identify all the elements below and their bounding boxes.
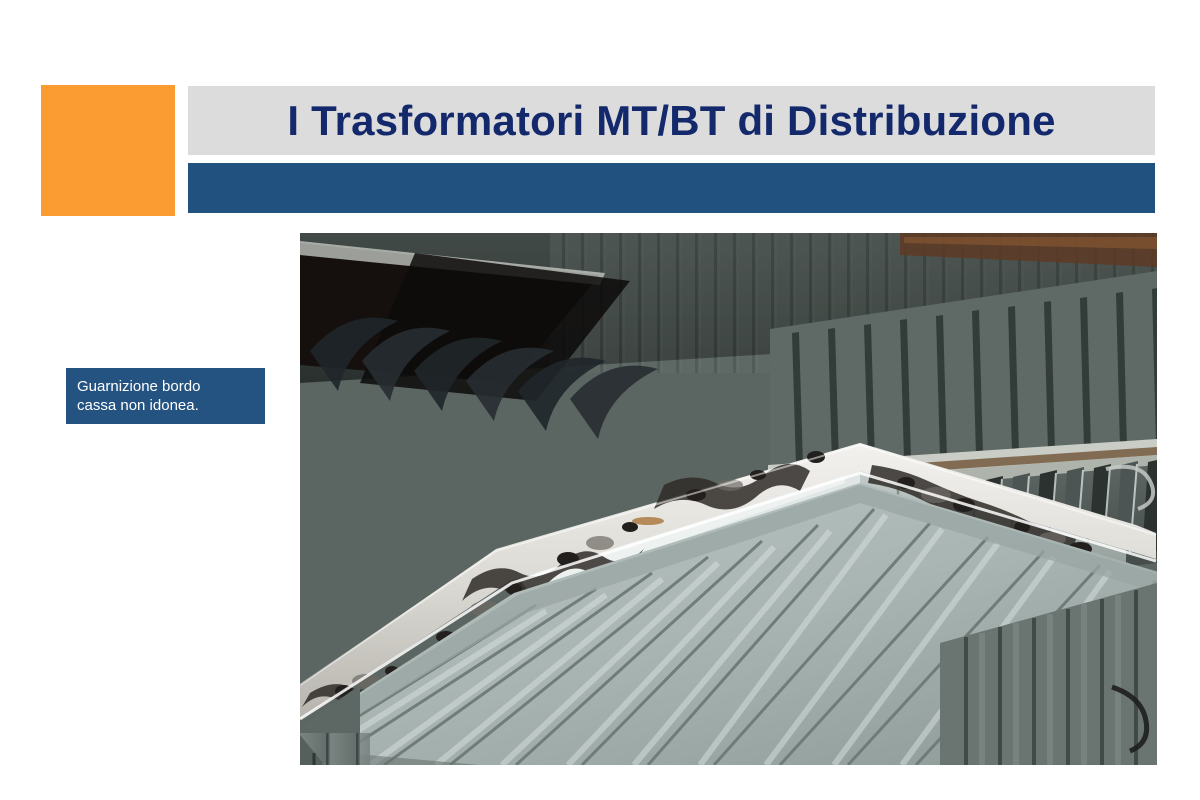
- title-underbar-decoration: [188, 163, 1155, 213]
- page-title: I Trasformatori MT/BT di Distribuzione: [287, 100, 1055, 142]
- caption-callout: Guarnizione bordo cassa non idonea.: [66, 368, 265, 424]
- photo-illustration: [300, 233, 1157, 765]
- accent-square-decoration: [41, 85, 175, 216]
- transformer-tank-photo: [300, 233, 1157, 765]
- title-band: I Trasformatori MT/BT di Distribuzione: [188, 86, 1155, 155]
- caption-line-1: Guarnizione bordo: [77, 377, 200, 396]
- slide-root: I Trasformatori MT/BT di Distribuzione G…: [0, 0, 1200, 800]
- caption-line-2: cassa non idonea.: [77, 396, 199, 415]
